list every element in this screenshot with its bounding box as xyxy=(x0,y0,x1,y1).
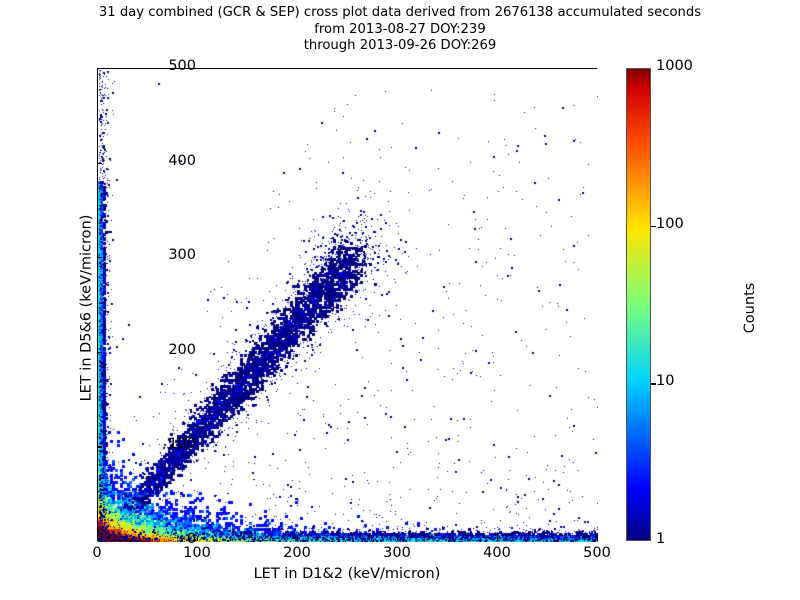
y-tick-mark xyxy=(97,257,102,258)
title-line-2: from 2013-08-27 DOY:239 xyxy=(0,22,800,39)
x-tick-mark xyxy=(497,536,498,541)
colorbar-tick-label: 1 xyxy=(656,531,665,547)
colorbar-tick-label: 100 xyxy=(656,216,684,232)
colorbar-tick-mark xyxy=(651,226,656,227)
x-tick-label: 100 xyxy=(167,545,227,561)
title-line-1: 31 day combined (GCR & SEP) cross plot d… xyxy=(0,5,800,22)
y-tick-label: 200 xyxy=(136,342,196,358)
y-tick-label: 500 xyxy=(136,58,196,74)
colorbar xyxy=(626,68,651,541)
x-tick-label: 0 xyxy=(67,545,127,561)
colorbar-tick-mark xyxy=(651,383,656,384)
scatter-canvas xyxy=(98,69,598,542)
y-tick-label: 100 xyxy=(136,436,196,452)
x-tick-label: 400 xyxy=(467,545,527,561)
x-tick-label: 500 xyxy=(567,545,627,561)
y-tick-label: 300 xyxy=(136,247,196,263)
x-tick-mark xyxy=(197,536,198,541)
x-tick-label: 300 xyxy=(367,545,427,561)
x-tick-mark xyxy=(297,536,298,541)
x-tick-label: 200 xyxy=(267,545,327,561)
y-tick-mark xyxy=(97,163,102,164)
y-tick-label: 400 xyxy=(136,153,196,169)
y-tick-mark xyxy=(97,446,102,447)
y-tick-mark xyxy=(97,68,102,69)
x-axis-label: LET in D1&2 (keV/micron) xyxy=(97,566,597,582)
y-axis-label: LET in D5&6 (keV/micron) xyxy=(79,72,95,545)
title-line-3: through 2013-09-26 DOY:269 xyxy=(0,38,800,55)
colorbar-tick-label: 1000 xyxy=(656,58,693,74)
colorbar-tick-label: 10 xyxy=(656,373,674,389)
colorbar-gradient xyxy=(627,69,650,540)
chart-title: 31 day combined (GCR & SEP) cross plot d… xyxy=(0,5,800,55)
x-tick-mark xyxy=(397,536,398,541)
colorbar-label: Counts xyxy=(742,158,758,458)
x-tick-mark xyxy=(597,536,598,541)
y-tick-mark xyxy=(97,352,102,353)
plot-area xyxy=(97,68,597,541)
